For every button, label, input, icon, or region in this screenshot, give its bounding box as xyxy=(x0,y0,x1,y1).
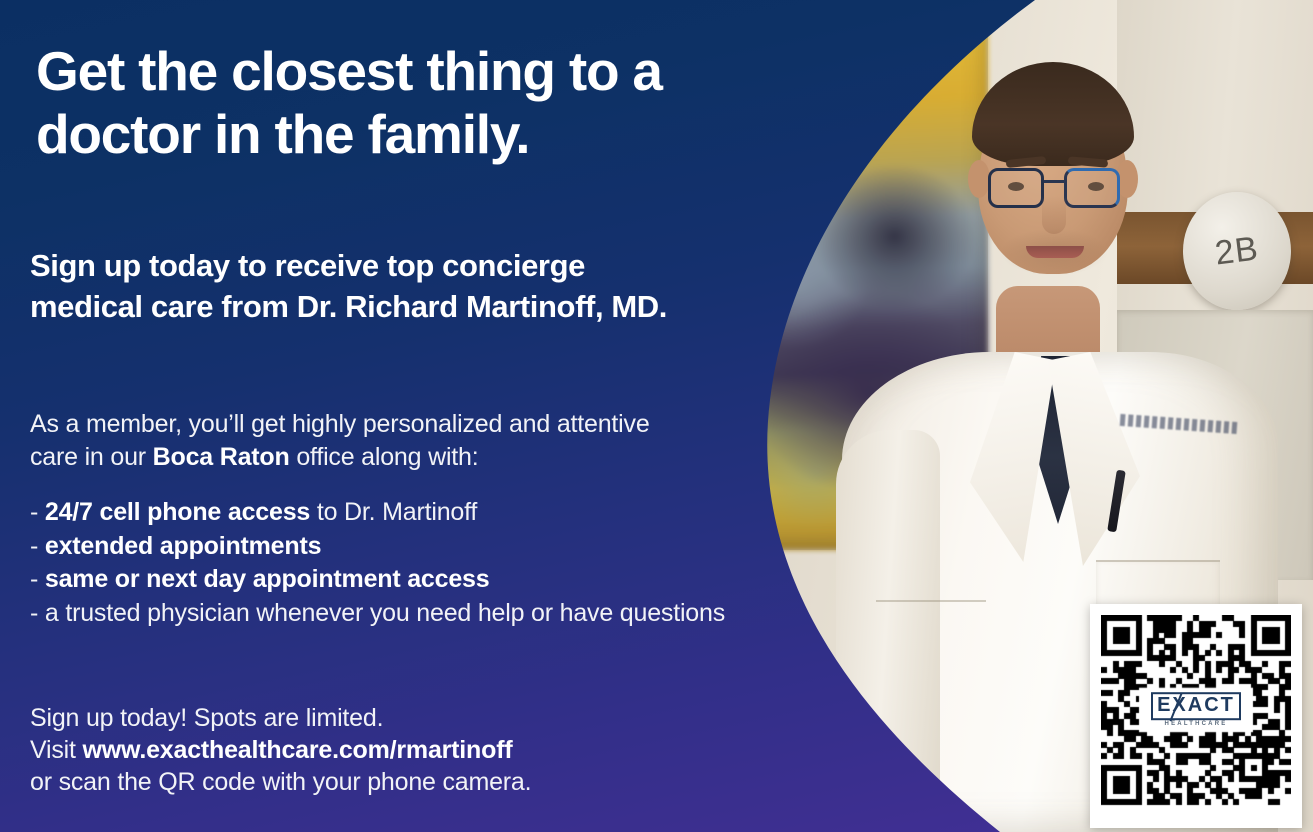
cta-line-1: Sign up today! Spots are limited. xyxy=(30,704,383,732)
qr-code-card[interactable]: EXACT HEALTHCARE xyxy=(1090,604,1302,828)
bullet-dash: - xyxy=(30,565,38,593)
website-url[interactable]: www.exacthealthcare.com/rmartinoff xyxy=(83,736,513,764)
cta-line-3: or scan the QR code with your phone came… xyxy=(30,768,531,796)
bullet-rest-text: a trusted physician whenever you need he… xyxy=(45,599,725,627)
bullet-bold-text: same or next day appointment access xyxy=(45,565,490,593)
bullet-bold-text: 24/7 cell phone access xyxy=(45,498,310,526)
headline: Get the closest thing to a doctor in the… xyxy=(36,40,736,165)
call-to-action: Sign up today! Spots are limited. Visit … xyxy=(30,702,730,798)
advertisement-poster: 2B th Palm B Group, artino Yi, M xyxy=(0,0,1313,832)
bullet-rest-text: to Dr. Martinoff xyxy=(310,498,477,526)
bullet-dash: - xyxy=(30,599,38,627)
office-location: Boca Raton xyxy=(153,443,290,471)
benefits-list: - 24/7 cell phone access to Dr. Martinof… xyxy=(30,498,760,632)
list-item: - a trusted physician whenever you need … xyxy=(30,599,760,629)
logo-subtitle: HEALTHCARE xyxy=(1151,721,1241,727)
cta-visit-label: Visit xyxy=(30,736,83,764)
exact-healthcare-logo: EXACT HEALTHCARE xyxy=(1148,690,1244,728)
list-item: - 24/7 cell phone access to Dr. Martinof… xyxy=(30,498,760,528)
bullet-dash: - xyxy=(30,532,38,560)
logo-wordmark-box: EXACT xyxy=(1151,692,1241,720)
bullet-dash: - xyxy=(30,498,38,526)
subheadline: Sign up today to receive top concierge m… xyxy=(30,245,670,327)
bullet-bold-text: extended appointments xyxy=(45,532,321,560)
body-line-2-post: office along with: xyxy=(290,443,479,471)
body-paragraph: As a member, you’ll get highly personali… xyxy=(30,408,770,475)
logo-wordmark: EXACT xyxy=(1157,694,1235,716)
body-line-2-pre: care in our xyxy=(30,443,153,471)
list-item: - extended appointments xyxy=(30,532,760,562)
list-item: - same or next day appointment access xyxy=(30,565,760,595)
body-line-1: As a member, you’ll get highly personali… xyxy=(30,410,650,438)
